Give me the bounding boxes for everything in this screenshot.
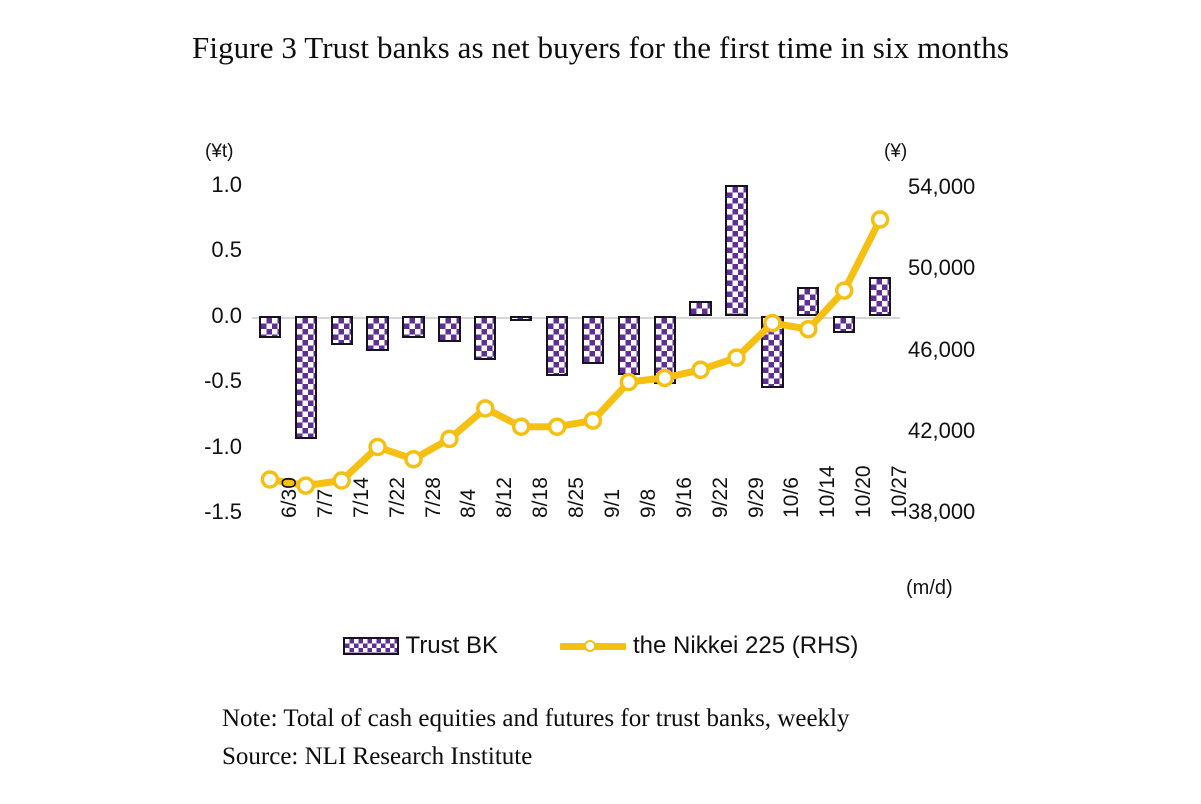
right-axis-tick-2: 46,000: [908, 337, 1008, 363]
x-axis-tick-8-18: 8/18: [529, 477, 553, 518]
x-axis-tick-9-8: 9/8: [637, 489, 661, 518]
x-axis-tick-labels: 6/307/77/147/227/288/48/128/188/259/19/8…: [252, 512, 898, 602]
x-axis-tick-7-7: 7/7: [314, 489, 338, 518]
x-axis-tick-9-16: 9/16: [673, 477, 697, 518]
figure-notes: Note: Total of cash equities and futures…: [222, 700, 850, 776]
bar-9-22: [689, 301, 711, 315]
right-axis-tick-3: 42,000: [908, 418, 1008, 444]
source-line: Source: NLI Research Institute: [222, 738, 850, 776]
x-axis-tick-8-4: 8/4: [457, 489, 481, 518]
x-axis-tick-10-27: 10/27: [888, 465, 912, 518]
legend-line-marker-icon: [584, 640, 596, 652]
x-axis-tick-6-30: 6/30: [278, 477, 302, 518]
x-axis-tick-7-22: 7/22: [386, 477, 410, 518]
x-axis-tick-8-12: 8/12: [493, 477, 517, 518]
left-axis-ticks: 1.00.50.0-0.5-1.0-1.5: [172, 0, 242, 804]
bar-9-1: [582, 316, 604, 364]
x-axis-tick-10-14: 10/14: [816, 465, 840, 518]
bar-6-30: [259, 316, 281, 338]
x-axis-tick-7-14: 7/14: [350, 477, 374, 518]
bar-7-22: [366, 316, 388, 351]
x-axis-tick-8-25: 8/25: [565, 477, 589, 518]
x-axis-tick-9-22: 9/22: [709, 477, 733, 518]
chart-area: (¥t) (¥) (m/d) 1.00.50.0-0.5-1.0-1.5 54,…: [0, 0, 1201, 804]
bar-8-25: [546, 316, 568, 376]
bar-9-8: [618, 316, 640, 375]
bar-9-16: [654, 316, 676, 384]
left-axis-tick-2: 0.0: [172, 303, 242, 329]
legend-label-nikkei-225: the Nikkei 225 (RHS): [633, 632, 858, 660]
left-axis-tick-3: -0.5: [172, 368, 242, 394]
bar-9-29: [725, 185, 747, 316]
x-axis-tick-10-6: 10/6: [780, 477, 804, 518]
legend-label-trust-bk: Trust BK: [406, 632, 498, 660]
left-axis-tick-0: 1.0: [172, 172, 242, 198]
right-axis-tick-1: 50,000: [908, 255, 1008, 281]
chart-legend: Trust BK the Nikkei 225 (RHS): [0, 632, 1201, 660]
bar-7-14: [331, 316, 353, 345]
bar-7-7: [295, 316, 317, 439]
bar-10-6: [761, 316, 783, 388]
legend-item-nikkei-225: the Nikkei 225 (RHS): [560, 632, 858, 660]
bar-10-27: [869, 277, 891, 316]
right-axis-ticks: 54,00050,00046,00042,00038,000: [908, 0, 1008, 804]
legend-item-trust-bk: Trust BK: [343, 632, 498, 660]
bar-10-14: [797, 287, 819, 316]
bar-8-4: [438, 316, 460, 342]
left-axis-tick-5: -1.5: [172, 499, 242, 525]
note-line: Note: Total of cash equities and futures…: [222, 700, 850, 738]
left-axis-tick-4: -1.0: [172, 434, 242, 460]
legend-line-swatch-icon: [560, 637, 626, 655]
bar-10-20: [833, 316, 855, 333]
legend-bar-swatch-icon: [343, 637, 399, 655]
bar-8-12: [474, 316, 496, 360]
x-axis-tick-10-20: 10/20: [852, 465, 876, 518]
bar-8-18: [510, 316, 532, 321]
x-axis-tick-9-29: 9/29: [745, 477, 769, 518]
bar-7-28: [402, 316, 424, 338]
x-axis-tick-9-1: 9/1: [601, 489, 625, 518]
bar-series-trust-bk: [252, 160, 898, 512]
x-axis-tick-7-28: 7/28: [422, 477, 446, 518]
right-axis-tick-4: 38,000: [908, 499, 1008, 525]
left-axis-tick-1: 0.5: [172, 237, 242, 263]
right-axis-tick-0: 54,000: [908, 174, 1008, 200]
